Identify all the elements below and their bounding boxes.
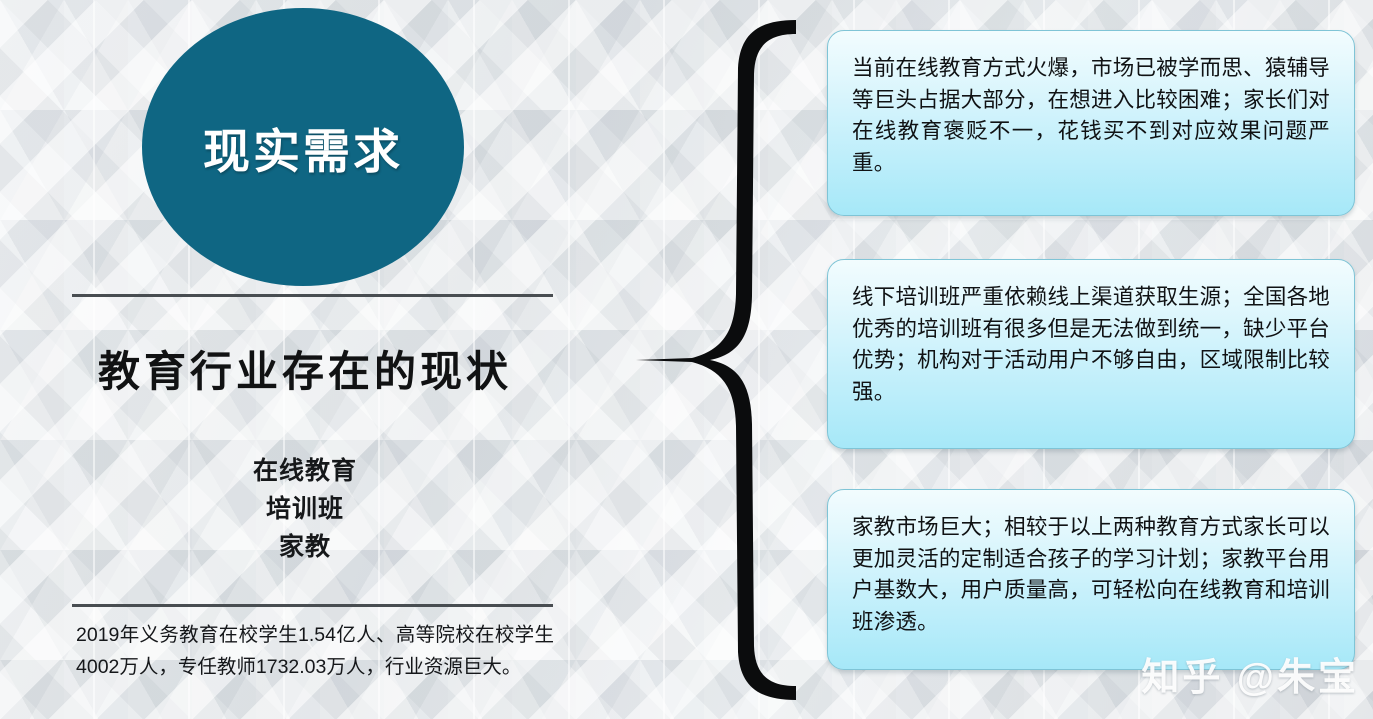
divider-bottom [72, 604, 553, 607]
callout-list: 当前在线教育方式火爆，市场已被学而思、猿辅导等巨头占据大部分，在想进入比较困难；… [827, 0, 1357, 719]
list-item: 培训班 [0, 490, 610, 528]
left-panel: 现实需求 教育行业存在的现状 在线教育 培训班 家教 2019年义务教育在校学生… [0, 0, 610, 719]
callout-text: 当前在线教育方式火爆，市场已被学而思、猿辅导等巨头占据大部分，在想进入比较困难；… [852, 53, 1330, 179]
divider-top [72, 294, 553, 297]
title-badge-label: 现实需求 [203, 113, 403, 182]
title-badge-ellipse: 现实需求 [142, 8, 464, 286]
statistics-note: 2019年义务教育在校学生1.54亿人、高等院校在校学生4002万人，专任教师1… [76, 620, 554, 683]
callout-card-online-education[interactable]: 当前在线教育方式火爆，市场已被学而思、猿辅导等巨头占据大部分，在想进入比较困难；… [827, 30, 1355, 216]
callout-text: 线下培训班严重依赖线上渠道获取生源；全国各地优秀的培训班有很多但是无法做到统一，… [852, 282, 1330, 408]
left-curly-brace-icon [618, 14, 828, 706]
list-item: 家教 [0, 528, 610, 566]
watermark: 知乎 @朱宝 [1141, 646, 1359, 701]
bullet-list: 在线教育 培训班 家教 [0, 452, 610, 566]
list-item: 在线教育 [0, 452, 610, 490]
callout-card-tutoring[interactable]: 家教市场巨大；相较于以上两种教育方式家长可以更加灵活的定制适合孩子的学习计划；家… [827, 489, 1355, 670]
slide-canvas: 现实需求 教育行业存在的现状 在线教育 培训班 家教 2019年义务教育在校学生… [0, 0, 1373, 719]
section-heading: 教育行业存在的现状 [0, 338, 610, 399]
callout-text: 家教市场巨大；相较于以上两种教育方式家长可以更加灵活的定制适合孩子的学习计划；家… [852, 512, 1330, 638]
callout-card-offline-training[interactable]: 线下培训班严重依赖线上渠道获取生源；全国各地优秀的培训班有很多但是无法做到统一，… [827, 259, 1355, 449]
